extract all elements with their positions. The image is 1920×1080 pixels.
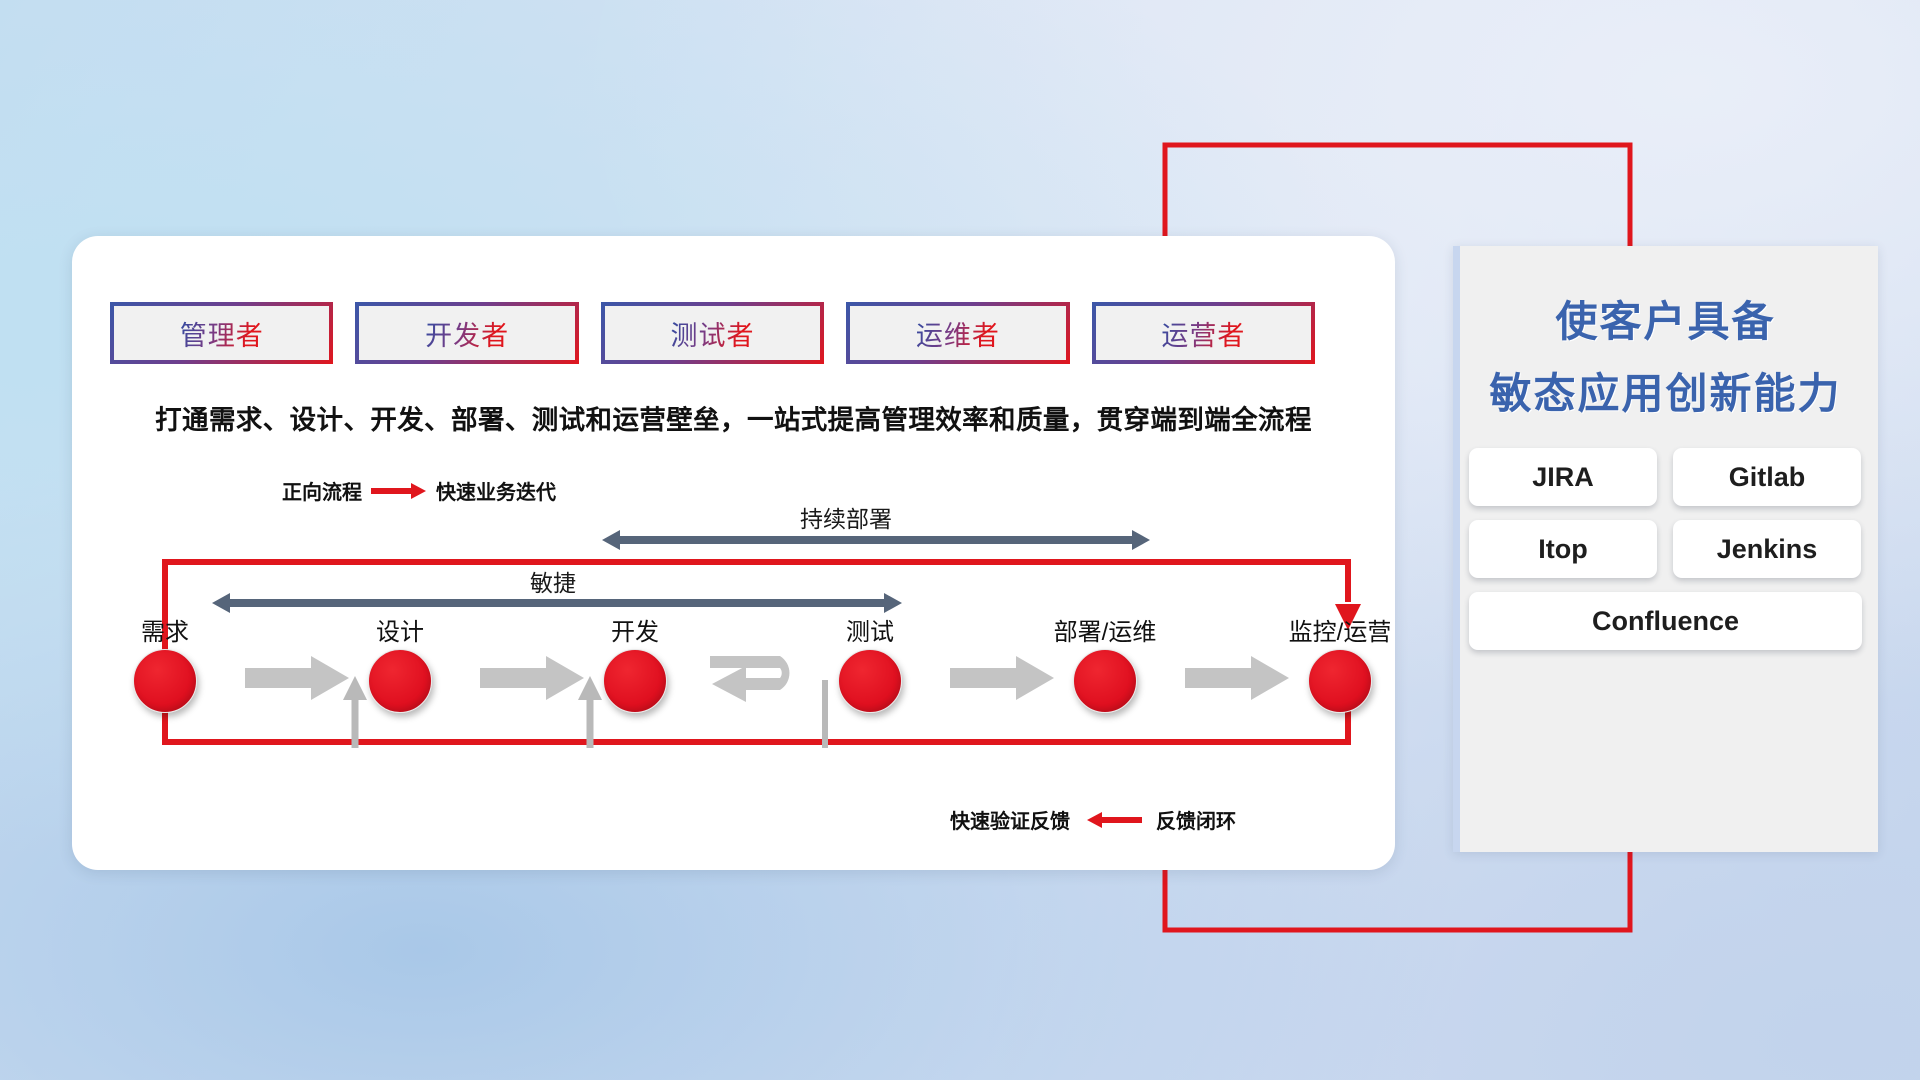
gray-arrow-icon-1 [245, 654, 350, 702]
pipeline-stage-row: 需求 设计 开发 测试 部署/运维 监控/运营 [110, 612, 1395, 732]
role-box-manager[interactable]: 管理者 [110, 302, 333, 364]
feedback-target-label: 快速验证反馈 [950, 805, 1070, 834]
tool-label: Jenkins [1717, 534, 1818, 565]
forward-flow-source-label: 正向流程 [282, 476, 362, 505]
stage-label: 部署/运维 [1030, 612, 1180, 647]
stage-requirement[interactable]: 需求 [90, 612, 240, 713]
panel-title-line-2: 敏态应用创新能力 [1453, 360, 1878, 421]
feedback-source-label: 反馈闭环 [1156, 805, 1236, 834]
role-box-row: 管理者 开发者 测试者 运维者 运营者 [110, 302, 1315, 364]
stage-dot [1308, 649, 1372, 713]
stage-dot [603, 649, 667, 713]
feedback-loop-legend: 快速验证反馈 反馈闭环 [950, 805, 1236, 834]
tool-pill-jenkins[interactable]: Jenkins [1673, 520, 1861, 578]
tool-pill-gitlab[interactable]: Gitlab [1673, 448, 1861, 506]
tool-label: Gitlab [1729, 462, 1806, 493]
red-left-arrow-icon [1084, 810, 1142, 830]
red-right-arrow-icon [371, 481, 427, 501]
gray-arrow-icon-4 [1185, 654, 1290, 702]
stage-dot [1073, 649, 1137, 713]
tool-pill-grid: JIRA Gitlab Itop Jenkins Confluence [1469, 448, 1862, 650]
gray-arrow-icon-3 [950, 654, 1055, 702]
forward-flow-legend: 正向流程 快速业务迭代 [282, 476, 556, 505]
stage-label: 监控/运营 [1265, 612, 1415, 647]
tool-pill-itop[interactable]: Itop [1469, 520, 1657, 578]
stage-dot [838, 649, 902, 713]
role-box-tester[interactable]: 测试者 [601, 302, 824, 364]
tool-pill-confluence[interactable]: Confluence [1469, 592, 1862, 650]
role-label: 管理者 [180, 314, 264, 353]
role-label: 运维者 [916, 314, 1000, 353]
headline-text: 打通需求、设计、开发、部署、测试和运营壁垒，一站式提高管理效率和质量，贯穿端到端… [155, 405, 1312, 435]
panel-title-line-1: 使客户具备 [1453, 288, 1878, 349]
role-box-developer[interactable]: 开发者 [355, 302, 578, 364]
role-box-ops[interactable]: 运维者 [846, 302, 1069, 364]
stage-label: 设计 [325, 612, 475, 647]
tool-label: Itop [1538, 534, 1587, 565]
gray-uturn-loop-arrow-icon [710, 646, 822, 712]
stage-label: 需求 [90, 612, 240, 647]
stage-label: 测试 [795, 612, 945, 647]
headline-wrapper: 打通需求、设计、开发、部署、测试和运营壁垒，一站式提高管理效率和质量，贯穿端到端… [72, 398, 1395, 437]
slide-canvas: 管理者 开发者 测试者 运维者 运营者 打通需求、设计、开发、部署、测试和运营壁… [0, 0, 1920, 1080]
tool-label: JIRA [1532, 462, 1594, 493]
stage-dot [368, 649, 432, 713]
forward-flow-target-label: 快速业务迭代 [436, 476, 556, 505]
stage-label: 开发 [560, 612, 710, 647]
tool-pill-jira[interactable]: JIRA [1469, 448, 1657, 506]
stage-dot [133, 649, 197, 713]
role-label: 运营者 [1161, 314, 1245, 353]
role-box-operations[interactable]: 运营者 [1092, 302, 1315, 364]
gray-arrow-icon-2 [480, 654, 585, 702]
value-proposition-panel: 使客户具备 敏态应用创新能力 JIRA Gitlab Itop Jenkins … [1453, 246, 1878, 852]
role-label: 开发者 [425, 314, 509, 353]
role-label: 测试者 [671, 314, 755, 353]
tool-label: Confluence [1592, 606, 1739, 637]
